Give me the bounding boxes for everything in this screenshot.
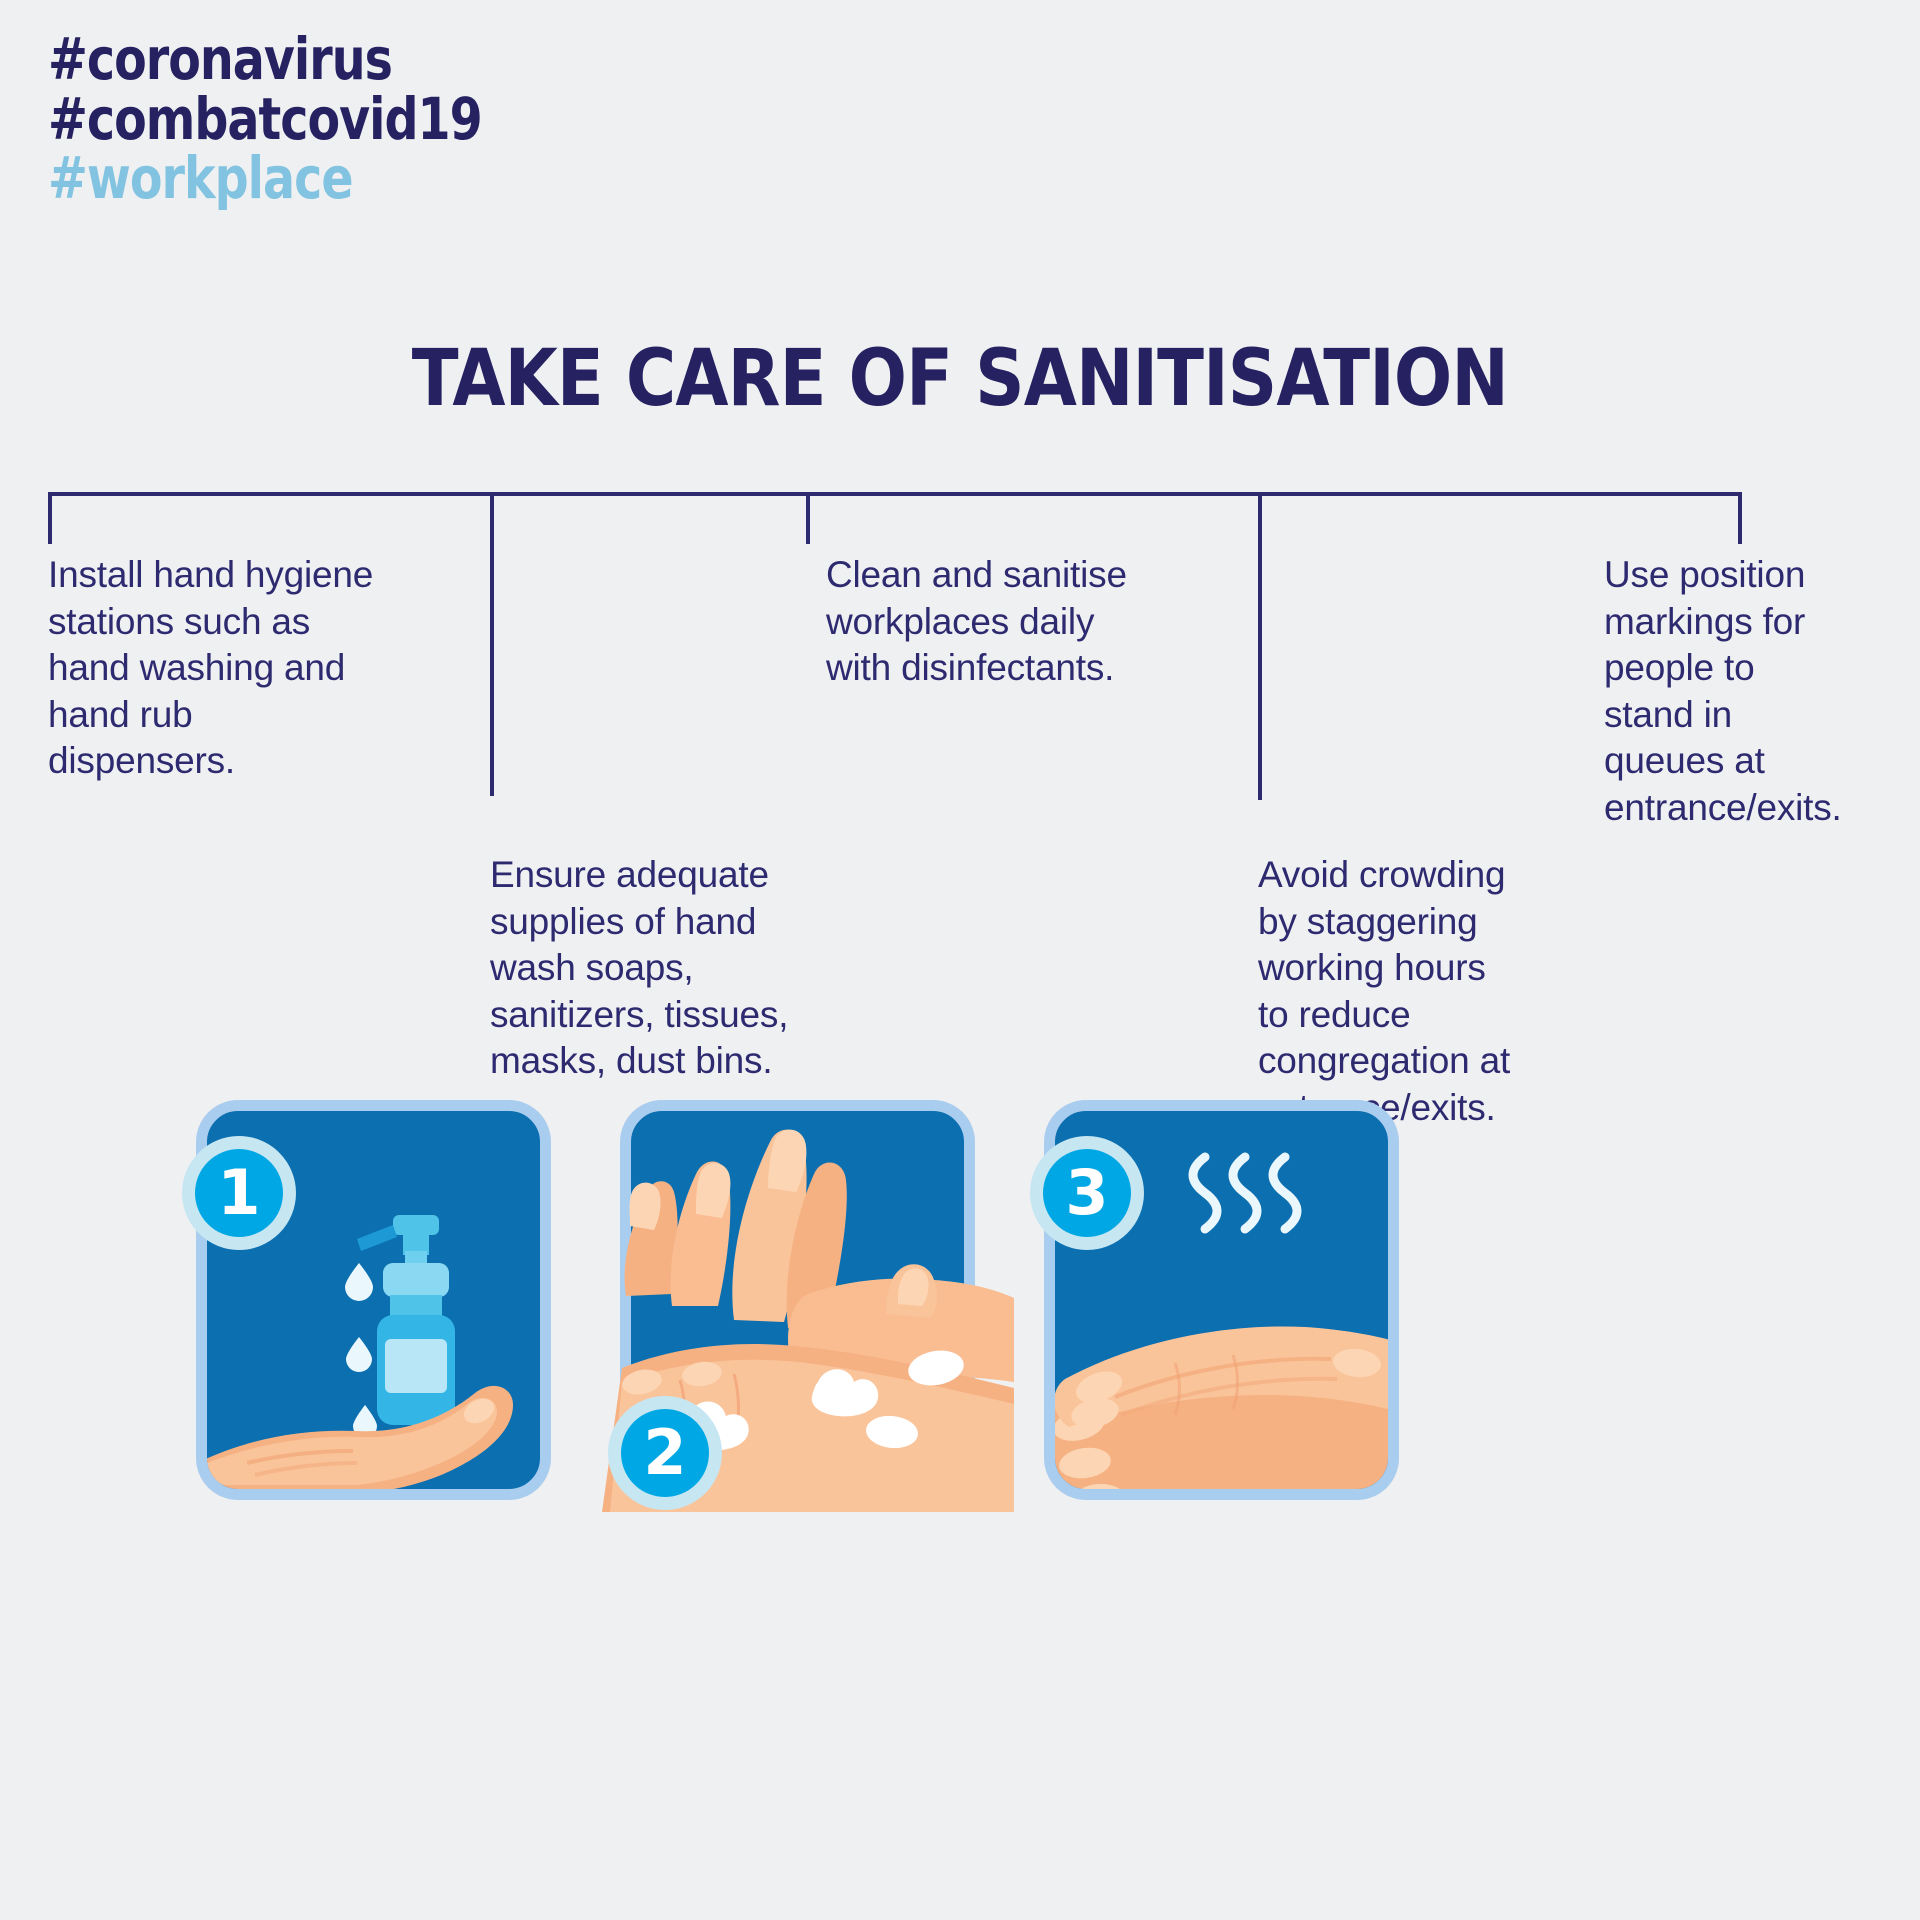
tip-line: to reduce xyxy=(1258,992,1588,1039)
step-badge-2: 2 xyxy=(608,1396,722,1510)
tip-line: hand rub xyxy=(48,692,458,739)
step-badge-1-number: 1 xyxy=(217,1162,260,1224)
tip-line: markings for xyxy=(1604,599,1904,646)
tip-line: stations such as xyxy=(48,599,458,646)
tip-use-position-markings: Use position markings for people to stan… xyxy=(1604,552,1904,832)
bracket-tick-2 xyxy=(490,492,494,796)
tip-line: working hours xyxy=(1258,945,1588,992)
bracket-tick-3 xyxy=(806,492,810,544)
bracket-horizontal-rule xyxy=(48,492,1742,496)
step-badge-1: 1 xyxy=(182,1136,296,1250)
tip-line: Ensure adequate xyxy=(490,852,860,899)
tip-line: by staggering xyxy=(1258,899,1588,946)
step-badge-2-number: 2 xyxy=(643,1422,686,1484)
tip-line: stand in xyxy=(1604,692,1904,739)
tip-line: Install hand hygiene xyxy=(48,552,458,599)
tip-line: queues at xyxy=(1604,738,1904,785)
tip-line: workplaces daily xyxy=(826,599,1216,646)
bracket-tick-1 xyxy=(48,492,52,544)
hashtag-group: #coronavirus #combatcovid19 #workplace xyxy=(48,32,577,211)
tip-line: Use position xyxy=(1604,552,1904,599)
bracket-tick-5 xyxy=(1738,492,1742,544)
tip-line: sanitizers, tissues, xyxy=(490,992,860,1039)
hashtag-coronavirus: #coronavirus xyxy=(48,32,482,88)
tip-line: Avoid crowding xyxy=(1258,852,1588,899)
tip-line: congregation at xyxy=(1258,1038,1588,1085)
tip-line: dispensers. xyxy=(48,738,458,785)
tip-line: with disinfectants. xyxy=(826,645,1216,692)
bracket-tick-4 xyxy=(1258,492,1262,800)
page-title-text: TAKE CARE OF SANITISATION xyxy=(412,334,1508,424)
tip-line: supplies of hand xyxy=(490,899,860,946)
tip-line: wash soaps, xyxy=(490,945,860,992)
tip-clean-and-sanitise-workplaces: Clean and sanitise workplaces daily with… xyxy=(826,552,1216,692)
tip-avoid-crowding: Avoid crowding by staggering working hou… xyxy=(1258,852,1588,1132)
tip-line: people to xyxy=(1604,645,1904,692)
tip-line: masks, dust bins. xyxy=(490,1038,860,1085)
steam-icon xyxy=(1193,1157,1297,1229)
tip-install-hand-hygiene-stations: Install hand hygiene stations such as ha… xyxy=(48,552,458,785)
step-badge-3: 3 xyxy=(1030,1136,1144,1250)
tip-line: hand washing and xyxy=(48,645,458,692)
hashtag-combatcovid19: #combatcovid19 xyxy=(48,92,482,148)
page-title: TAKE CARE OF SANITISATION xyxy=(0,334,1920,424)
tip-line: entrance/exits. xyxy=(1604,785,1904,832)
tip-line: Clean and sanitise xyxy=(826,552,1216,599)
step-card-group: 1 2 xyxy=(0,1100,1920,1520)
hashtag-workplace: #workplace xyxy=(48,151,482,207)
step-badge-3-number: 3 xyxy=(1065,1162,1108,1224)
tip-ensure-adequate-supplies: Ensure adequate supplies of hand wash so… xyxy=(490,852,860,1085)
